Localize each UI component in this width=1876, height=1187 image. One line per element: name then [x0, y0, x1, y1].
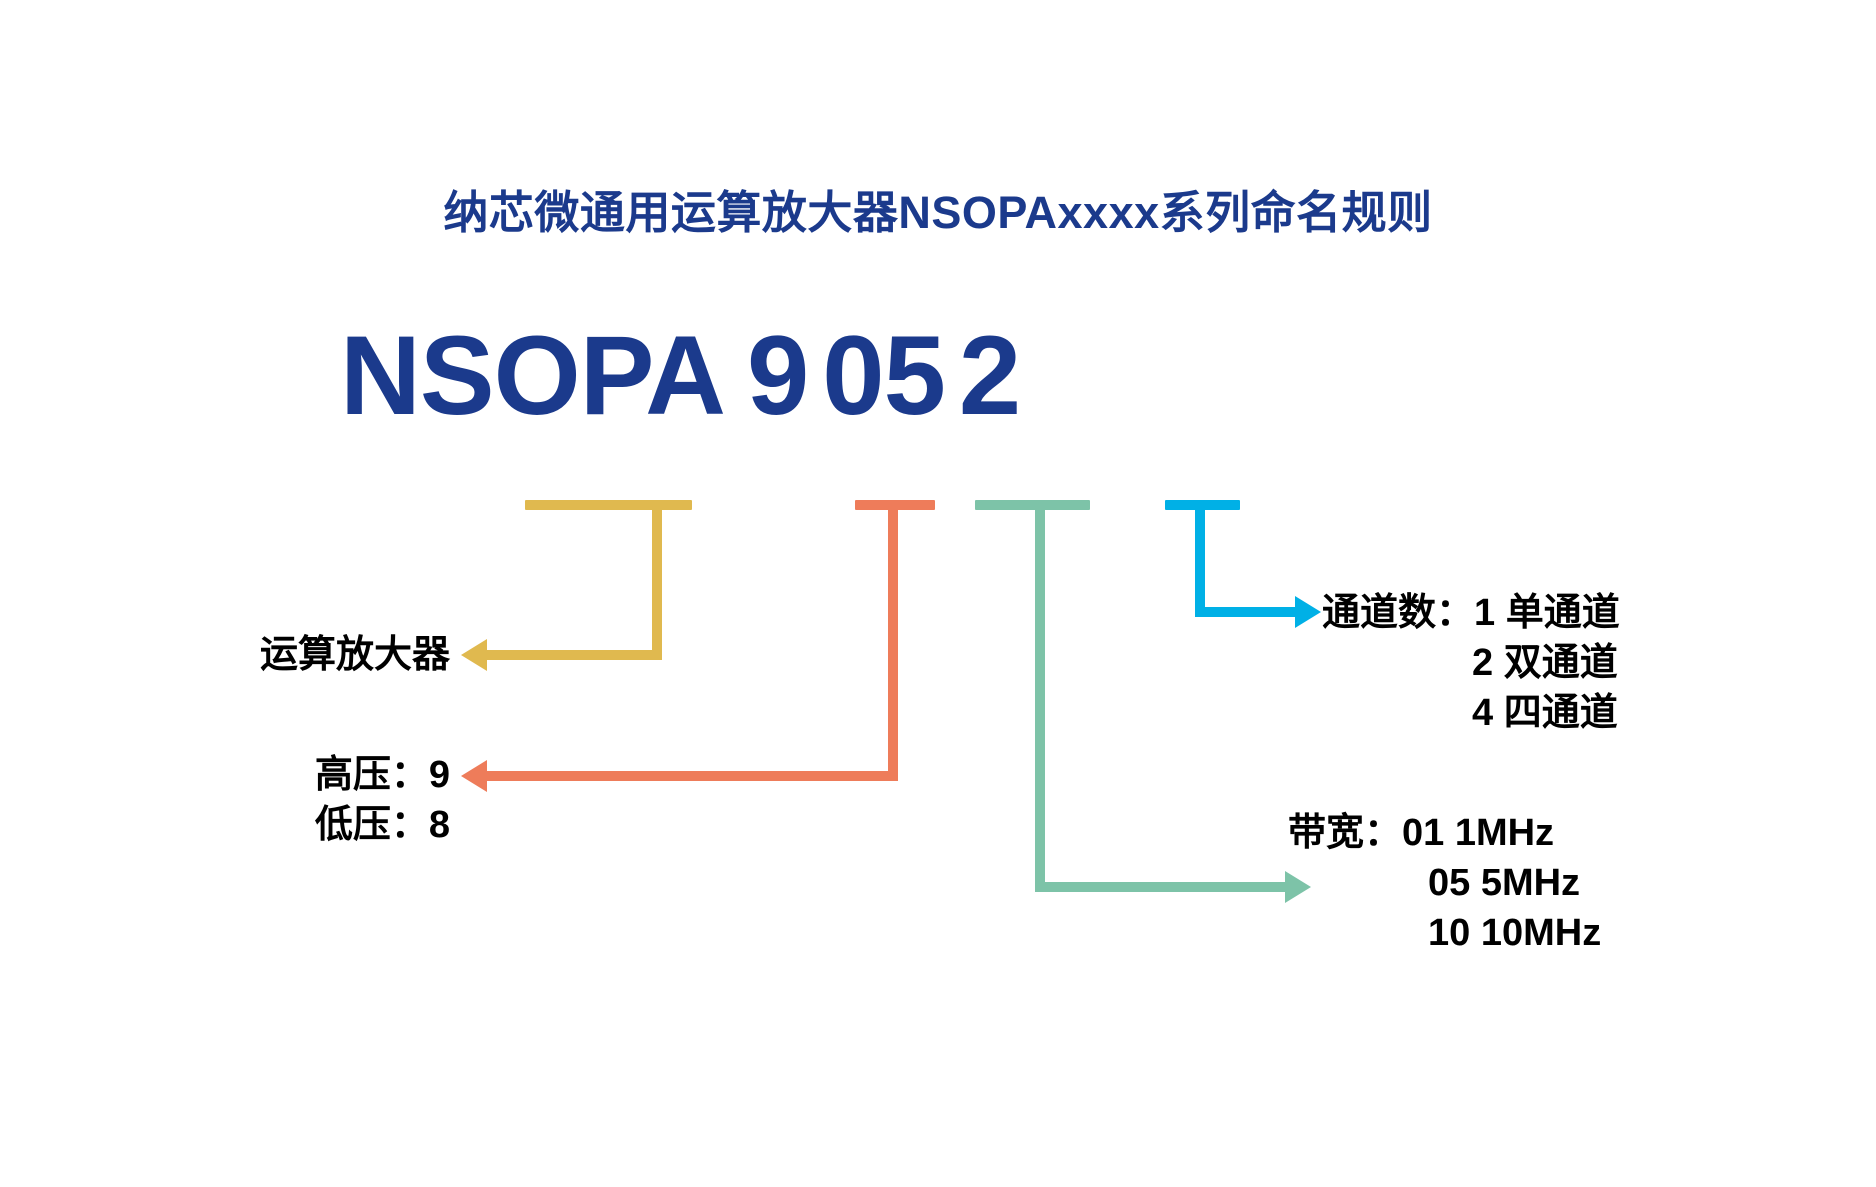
callout-channels-label: 通道数：1 单通道 2 双通道 4 四通道	[1322, 588, 1620, 738]
connector-horizontal-bandwidth	[1035, 882, 1285, 892]
callout-bandwidth-line-3: 10 10MHz	[1288, 908, 1601, 958]
callout-voltage-label: 高压：9 低压：8	[60, 750, 450, 850]
arrow-head-amplifier-icon	[461, 639, 487, 671]
part-number-prefix: NSOPA	[340, 320, 725, 432]
callout-amplifier-line-1: 运算放大器	[60, 630, 450, 680]
callout-channels-line-1: 通道数：1 单通道	[1322, 588, 1620, 638]
callout-voltage-line-1: 高压：9	[60, 750, 450, 800]
callout-channels-line-3: 4 四通道	[1322, 688, 1620, 738]
callout-bandwidth-line-2: 05 5MHz	[1288, 858, 1601, 908]
connector-vertical-amplifier	[652, 500, 662, 660]
callout-bandwidth-label: 带宽：01 1MHz 05 5MHz 10 10MHz	[1288, 808, 1601, 958]
part-number-voltage-digit: 9	[747, 320, 808, 432]
callout-voltage-line-2: 低压：8	[60, 800, 450, 850]
part-number-bandwidth-digits: 05	[822, 320, 945, 432]
callout-amplifier-label: 运算放大器	[60, 630, 450, 680]
connector-horizontal-voltage	[485, 771, 898, 781]
page-title: 纳芯微通用运算放大器NSOPAxxxx系列命名规则	[0, 176, 1876, 241]
diagram-canvas: 纳芯微通用运算放大器NSOPAxxxx系列命名规则 NSOPA 9 05 2 运…	[0, 0, 1876, 1187]
callout-bandwidth-line-1: 带宽：01 1MHz	[1288, 808, 1601, 858]
callout-channels-line-2: 2 双通道	[1322, 638, 1620, 688]
arrow-head-channels-icon	[1295, 596, 1321, 628]
connector-vertical-bandwidth	[1035, 500, 1045, 892]
part-number-channel-digit: 2	[959, 320, 1020, 432]
part-number-display: NSOPA 9 05 2	[340, 320, 1020, 432]
connector-horizontal-channels	[1195, 607, 1295, 617]
connector-horizontal-amplifier	[485, 650, 662, 660]
underline-bar-bandwidth	[975, 500, 1090, 510]
connector-vertical-voltage	[888, 500, 898, 781]
arrow-head-voltage-icon	[461, 760, 487, 792]
underline-bar-amplifier	[525, 500, 692, 510]
connector-vertical-channels	[1195, 500, 1205, 617]
